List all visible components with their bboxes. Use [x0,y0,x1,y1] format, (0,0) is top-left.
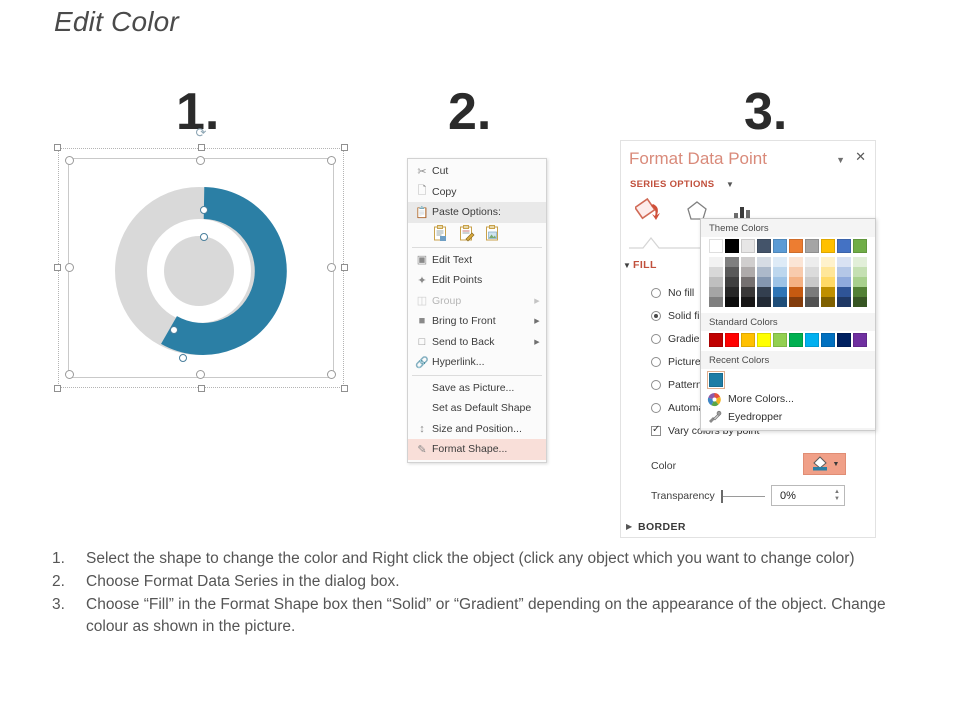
transparency-slider-track[interactable] [723,496,765,497]
context-menu-item-label: Bring to Front [432,315,532,327]
color-picker-popup[interactable]: Theme Colors Standard Colors Recent Colo… [700,218,876,431]
theme-shade-swatch-2-5[interactable] [789,277,803,287]
standard-color-swatch-7[interactable] [821,333,835,347]
theme-shade-swatch-2-9[interactable] [853,277,867,287]
checkbox-vary-colors[interactable] [651,426,661,436]
radio-automatic[interactable] [651,403,661,413]
group-icon: ◫ [412,294,432,307]
theme-shade-swatch-2-6[interactable] [805,277,819,287]
standard-color-swatch-9[interactable] [853,333,867,347]
theme-shade-swatch-0-1[interactable] [725,257,739,267]
instruction-item: 1. Select the shape to change the color … [52,548,892,570]
chevron-down-icon[interactable]: ▼ [726,180,734,189]
standard-color-swatch-1[interactable] [725,333,739,347]
context-menu-item-bring-to-front[interactable]: ■ Bring to Front ▶ [408,311,546,332]
theme-shade-swatch-3-6[interactable] [805,287,819,297]
fill-section-header[interactable]: FILL [633,259,657,271]
standard-color-swatch-0[interactable] [709,333,723,347]
stepper-arrows[interactable]: ▲ ▼ [830,489,844,503]
theme-color-swatch-8[interactable] [837,239,851,253]
context-menu-item-save-as-picture[interactable]: Save as Picture... [408,378,546,399]
theme-shade-swatch-0-2[interactable] [741,257,755,267]
theme-shade-swatch-0-8[interactable] [837,257,851,267]
theme-shade-swatch-4-4[interactable] [773,297,787,307]
context-menu-item-label: Cut [432,165,542,177]
recent-colors-grid[interactable] [701,371,875,390]
border-section-header[interactable]: BORDER [638,521,686,533]
theme-shade-swatch-4-3[interactable] [757,297,771,307]
theme-shade-swatch-2-1[interactable] [725,277,739,287]
inner-handle-bottom-center[interactable] [196,370,205,379]
transparency-stepper[interactable]: 0% ▲ ▼ [771,485,845,506]
standard-colors-label: Standard Colors [701,313,875,331]
context-menu-item-label: Set as Default Shape [432,402,542,414]
context-menu-item-copy[interactable]: 🗋 Copy [408,182,546,203]
chevron-down-icon[interactable]: ▼ [836,155,845,165]
theme-shade-swatch-4-2[interactable] [741,297,755,307]
radio-solid-fill[interactable] [651,311,661,321]
context-menu-item-set-as-default-shape[interactable]: Set as Default Shape [408,398,546,419]
theme-shade-swatch-1-7[interactable] [821,267,835,277]
inner-handle-bottom-left[interactable] [65,370,74,379]
context-menu-separator [412,247,542,248]
resize-handle-middle-left[interactable] [54,264,61,271]
context-menu-item-edit-points[interactable]: ✦ Edit Points [408,270,546,291]
inner-handle-bottom-right[interactable] [327,370,336,379]
theme-shade-swatch-1-9[interactable] [853,267,867,277]
theme-shade-swatch-2-0[interactable] [709,277,723,287]
theme-shade-swatch-0-4[interactable] [773,257,787,267]
theme-shade-swatch-3-1[interactable] [725,287,739,297]
standard-color-swatch-5[interactable] [789,333,803,347]
theme-shade-swatch-2-8[interactable] [837,277,851,287]
context-menu-item-label: Edit Points [432,274,542,286]
instruction-number: 1. [52,548,86,570]
instruction-number: 3. [52,594,86,638]
context-menu-paste-options-header: 📋 Paste Options: [408,202,546,223]
doughnut-chart[interactable] [111,178,297,364]
standard-color-swatch-6[interactable] [805,333,819,347]
theme-color-swatch-4[interactable] [773,239,787,253]
resize-handle-bottom-right[interactable] [341,385,348,392]
inner-handle-top-center[interactable] [196,156,205,165]
recent-color-swatch-0[interactable] [709,373,723,387]
datapoint-handle-arc-end-inner[interactable] [170,326,178,334]
instruction-number: 2. [52,571,86,593]
context-menu-item-label: Send to Back [432,336,532,348]
bring-to-front-icon: ■ [412,315,432,327]
size-position-icon: ↕ [412,423,432,435]
theme-colors-label: Theme Colors [701,219,875,237]
context-menu-item-edit-text[interactable]: ▣ Edit Text [408,250,546,271]
step-number-3: 3. [744,86,787,138]
instruction-text: Choose Format Data Series in the dialog … [86,571,892,593]
theme-shade-swatch-1-2[interactable] [741,267,755,277]
theme-shade-swatch-3-5[interactable] [789,287,803,297]
standard-color-swatch-3[interactable] [757,333,771,347]
context-menu-item-cut[interactable]: ✂ Cut [408,161,546,182]
color-row[interactable]: Color ▼ [651,453,866,479]
theme-shade-swatch-3-3[interactable] [757,287,771,297]
theme-color-swatch-6[interactable] [805,239,819,253]
theme-color-swatch-2[interactable] [741,239,755,253]
inner-handle-middle-right[interactable] [327,263,336,272]
theme-shade-swatch-1-1[interactable] [725,267,739,277]
instruction-text: Choose “Fill” in the Format Shape box th… [86,594,892,638]
spin-up-icon[interactable]: ▲ [834,489,840,496]
standard-color-swatch-2[interactable] [741,333,755,347]
theme-color-swatch-0[interactable] [709,239,723,253]
paste-picture-icon[interactable] [484,225,501,242]
theme-colors-grid[interactable] [701,239,875,255]
context-menu-item-label: Save as Picture... [432,382,542,394]
context-menu-item-label: Hyperlink... [432,356,542,368]
theme-color-swatch-9[interactable] [853,239,867,253]
theme-shades-grid[interactable] [701,255,875,311]
clipboard-icon: 📋 [412,206,432,219]
inner-handle-middle-left[interactable] [65,263,74,272]
radio-gradient-fill[interactable] [651,334,661,344]
caret-down-icon[interactable]: ▼ [623,261,631,270]
datapoint-handle-arc-start-inner[interactable] [200,233,208,241]
theme-shade-swatch-4-5[interactable] [789,297,803,307]
step-number-2: 2. [448,86,491,138]
theme-shade-swatch-0-9[interactable] [853,257,867,267]
caret-right-icon[interactable]: ▶ [626,522,632,531]
scissors-icon: ✂ [412,165,432,178]
page-title: Edit Color [54,6,179,38]
pane-title: Format Data Point [629,149,767,169]
doughnut-inner-disc [164,236,234,306]
theme-shade-swatch-0-3[interactable] [757,257,771,267]
theme-shade-swatch-1-3[interactable] [757,267,771,277]
eyedropper-action[interactable]: Eyedropper [701,408,875,426]
fill-bucket-icon [810,456,830,472]
paste-options-icon-row[interactable] [408,223,546,245]
radio-picture-fill[interactable] [651,357,661,367]
standard-color-swatch-8[interactable] [837,333,851,347]
context-menu-item-send-to-back[interactable]: □ Send to Back ▶ [408,332,546,353]
color-picker-button[interactable]: ▼ [803,453,846,475]
inner-handle-top-left[interactable] [65,156,74,165]
context-menu-item-label: Group [432,295,532,307]
edit-points-icon: ✦ [412,274,432,287]
paste-keep-source-formatting-icon[interactable] [432,225,449,242]
theme-shade-swatch-2-4[interactable] [773,277,787,287]
theme-shade-swatch-4-7[interactable] [821,297,835,307]
inner-handle-top-right[interactable] [327,156,336,165]
theme-color-swatch-5[interactable] [789,239,803,253]
paste-use-destination-theme-icon[interactable] [458,225,475,242]
copy-icon: 🗋 [412,182,432,201]
fill-option-label: Solid fill [668,310,704,322]
theme-shade-swatch-2-3[interactable] [757,277,771,287]
send-to-back-icon: □ [412,336,432,348]
resize-handle-bottom-left[interactable] [54,385,61,392]
recent-colors-label: Recent Colors [701,351,875,369]
context-menu-item-label: Format Shape... [432,443,542,455]
theme-shade-swatch-4-0[interactable] [709,297,723,307]
chevron-right-icon: ▶ [532,317,542,325]
context-menu-item-format-shape[interactable]: ✎ Format Shape... [408,439,546,460]
theme-shade-swatch-3-9[interactable] [853,287,867,297]
theme-shade-swatch-0-6[interactable] [805,257,819,267]
transparency-value: 0% [772,490,830,502]
context-menu-item-label: Paste Options: [432,206,542,218]
context-menu-item-label: Edit Text [432,254,542,266]
chevron-right-icon: ▶ [532,338,542,346]
theme-shade-swatch-0-0[interactable] [709,257,723,267]
theme-color-swatch-3[interactable] [757,239,771,253]
shape-context-menu[interactable]: ✂ Cut 🗋 Copy 📋 Paste Options: [407,158,547,463]
resize-handle-middle-right[interactable] [341,264,348,271]
context-menu-item-group: ◫ Group ▶ [408,291,546,312]
theme-shade-swatch-4-9[interactable] [853,297,867,307]
transparency-slider-knob[interactable] [721,490,723,503]
theme-shade-swatch-1-4[interactable] [773,267,787,277]
theme-shade-swatch-4-6[interactable] [805,297,819,307]
fill-option-label: No fill [668,287,694,299]
format-shape-icon: ✎ [412,443,432,456]
instruction-item: 3. Choose “Fill” in the Format Shape box… [52,594,892,638]
theme-shade-swatch-0-7[interactable] [821,257,835,267]
hyperlink-icon: 🔗 [412,356,432,369]
theme-shade-swatch-1-6[interactable] [805,267,819,277]
more-colors-action[interactable]: More Colors... [701,390,875,408]
theme-shade-swatch-1-5[interactable] [789,267,803,277]
datapoint-handle-arc-end-outer[interactable] [179,354,187,362]
resize-handle-top-left[interactable] [54,144,61,151]
theme-color-swatch-1[interactable] [725,239,739,253]
theme-shade-swatch-3-0[interactable] [709,287,723,297]
theme-color-swatch-7[interactable] [821,239,835,253]
theme-shade-swatch-2-2[interactable] [741,277,755,287]
theme-shade-swatch-1-0[interactable] [709,267,723,277]
theme-shade-swatch-3-8[interactable] [837,287,851,297]
resize-handle-bottom-center[interactable] [198,385,205,392]
resize-handle-top-center[interactable] [198,144,205,151]
close-icon[interactable]: ✕ [855,150,866,163]
spin-down-icon[interactable]: ▼ [834,496,840,503]
radio-pattern-fill[interactable] [651,380,661,390]
theme-shade-swatch-3-2[interactable] [741,287,755,297]
color-row-label: Color [651,460,676,472]
edit-text-icon: ▣ [412,253,432,266]
radio-no-fill[interactable] [651,288,661,298]
context-menu-item-label: Copy [432,186,542,198]
transparency-row[interactable]: Transparency 0% ▲ ▼ [651,485,866,507]
eyedropper-icon [707,410,722,425]
selected-shape-canvas[interactable]: ⟳ [58,148,344,388]
transparency-label: Transparency [651,490,715,502]
context-menu-separator [412,375,542,376]
theme-shade-swatch-0-5[interactable] [789,257,803,267]
standard-color-swatch-4[interactable] [773,333,787,347]
theme-shade-swatch-2-7[interactable] [821,277,835,287]
instruction-text: Select the shape to change the color and… [86,548,892,570]
more-colors-label: More Colors... [728,393,794,405]
theme-shade-swatch-4-8[interactable] [837,297,851,307]
theme-shade-swatch-1-8[interactable] [837,267,851,277]
theme-shade-swatch-3-7[interactable] [821,287,835,297]
resize-handle-top-right[interactable] [341,144,348,151]
theme-shade-swatch-4-1[interactable] [725,297,739,307]
rotate-icon[interactable]: ⟳ [194,126,208,140]
context-menu-item-size-and-position[interactable]: ↕ Size and Position... [408,419,546,440]
color-wheel-icon [707,392,722,407]
datapoint-handle-arc-start-outer[interactable] [200,206,208,214]
context-menu-item-label: Size and Position... [432,423,542,435]
instructions-list: 1. Select the shape to change the color … [52,548,892,639]
chevron-right-icon: ▶ [532,297,542,305]
fill-and-line-icon[interactable] [635,197,663,228]
instruction-item: 2. Choose Format Data Series in the dial… [52,571,892,593]
standard-colors-grid[interactable] [701,333,875,349]
chevron-down-icon[interactable]: ▼ [833,461,840,468]
context-menu-item-hyperlink[interactable]: 🔗 Hyperlink... [408,352,546,373]
series-options-tab[interactable]: SERIES OPTIONS [630,179,714,190]
eyedropper-label: Eyedropper [728,411,782,423]
theme-shade-swatch-3-4[interactable] [773,287,787,297]
